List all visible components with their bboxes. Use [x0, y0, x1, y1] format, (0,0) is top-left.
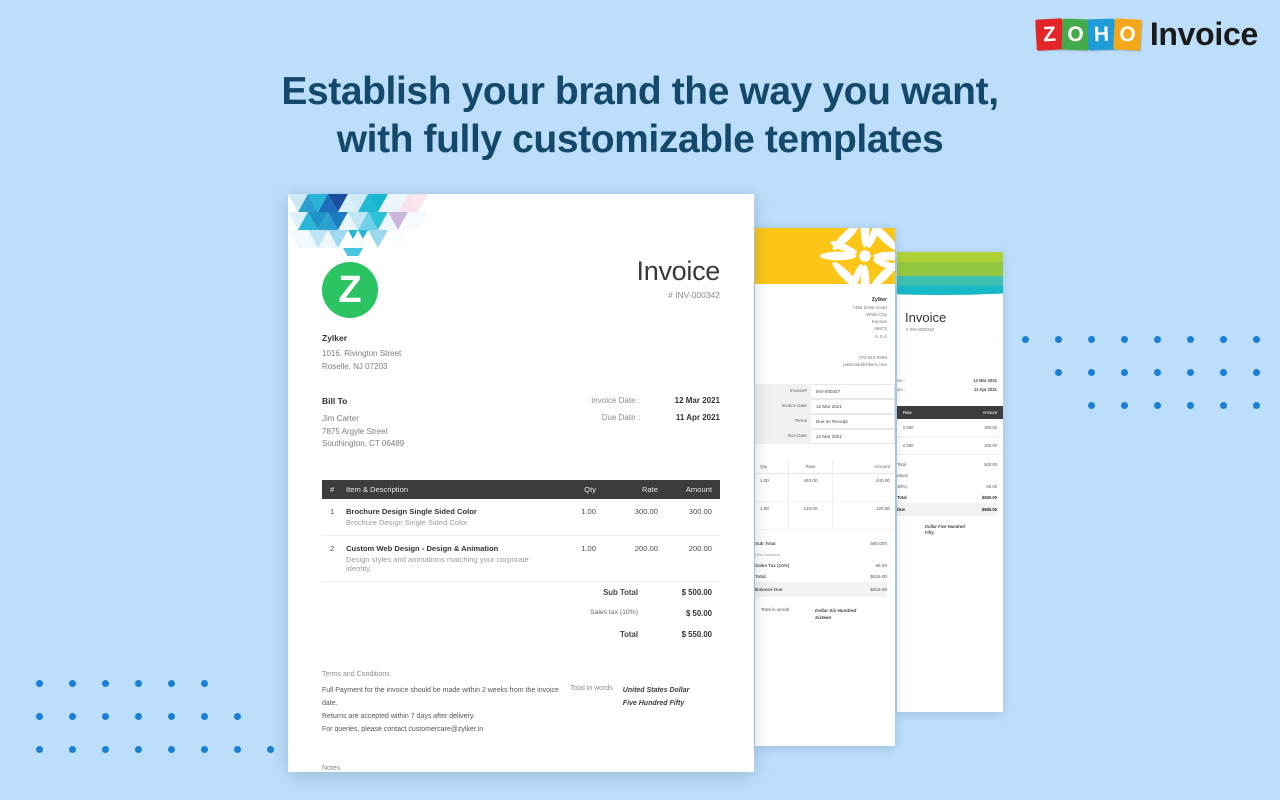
main-col-amount: Amount: [658, 485, 720, 494]
dot: [1187, 369, 1194, 376]
green-total-label: 10%): [897, 484, 907, 489]
main-cell-amount: 300.00: [658, 507, 720, 527]
yellow-balance-row: Balance Due $616.00: [755, 582, 887, 597]
yellow-cell-rate: 440.00: [789, 474, 833, 501]
yellow-org-line5: U.S.A: [755, 333, 887, 340]
green-total-value: 50.00: [987, 484, 997, 489]
dot: [168, 680, 175, 687]
yellow-total-value: $616.00: [870, 574, 887, 579]
dot: [1253, 336, 1260, 343]
dot-pattern-left: [36, 680, 300, 779]
dot: [69, 746, 76, 753]
main-bill-to-line2: Southington, CT 06489: [322, 438, 720, 450]
dot: [1220, 369, 1227, 376]
green-balance-label: Due: [897, 507, 905, 512]
dot-row: [36, 680, 300, 713]
main-notes-heading: Notes: [322, 765, 720, 772]
main-notes: Notes It was wonderful doing business wi…: [322, 765, 720, 772]
dot: [69, 713, 76, 720]
yellow-total-label: Sub Total: [755, 541, 776, 546]
yellow-total-label: Total: [755, 574, 766, 579]
dot: [1220, 336, 1227, 343]
yellow-meta-row: Terms Due on Receipt: [755, 414, 895, 429]
dot-row: [1088, 402, 1280, 435]
main-cell-amount: 200.00: [658, 544, 720, 573]
yellow-table-header: Qty Rate Amount: [755, 460, 895, 474]
yellow-total-in-words: Total in words Dollar Six Hundred Sixtee…: [755, 597, 895, 621]
yellow-total-row: Total $616.00: [755, 571, 887, 582]
yellow-cell-amount: 120.00: [833, 502, 895, 529]
dot: [1121, 369, 1128, 376]
main-org-address: Zylker 1016, Rivington Street Roselle, N…: [322, 332, 720, 373]
dot-row: [36, 713, 300, 746]
yellow-meta-label: Invoice Date: [755, 399, 811, 414]
green-cell-amount: 200.00: [984, 443, 997, 448]
main-due-date-value: 11 Apr 2021: [658, 413, 720, 422]
green-total-row: 10%) 50.00: [897, 481, 997, 492]
main-org-name: Zylker: [322, 332, 720, 345]
yellow-words-line-2: Sixteen: [815, 615, 831, 620]
dot: [102, 746, 109, 753]
yellow-meta-row: Invoice# INV-000347: [755, 384, 895, 399]
yellow-meta-table: Invoice# INV-000347 Invoice Date 12 Mar …: [755, 384, 895, 444]
invoice-template-green[interactable]: Invoice # INV-000342 ate : 12 Mar 2021 a…: [897, 252, 1003, 712]
logo-box-o2: O: [1113, 18, 1142, 50]
yellow-total-row: Sub Total 560.000: [755, 538, 887, 549]
main-terms-line-3: For queries, please contact customercare…: [322, 724, 570, 737]
yellow-org-line1: 7455 Drew Court: [755, 304, 887, 311]
main-terms-heading: Terms and Conditions: [322, 671, 570, 678]
green-total-row: Total 500.00: [897, 459, 997, 470]
yellow-meta-row: Due Date 12 Mar 2021: [755, 429, 895, 444]
yellow-table-row: 1.00 120.00 120.00: [755, 502, 895, 530]
main-terms-line-1: Full Payment for the invoice should be m…: [322, 685, 570, 711]
main-totals: Sub Total $ 500.00 Sales tax (10%) $ 50.…: [322, 582, 720, 645]
main-footer: Terms and Conditions Full Payment for th…: [322, 671, 720, 737]
dot: [201, 746, 208, 753]
green-invoice-title: Invoice: [897, 300, 1003, 325]
green-words-line-2: Fifty: [925, 530, 997, 536]
dot: [36, 680, 43, 687]
green-balance-value: $550.00: [982, 507, 997, 512]
main-item-title: Custom Web Design - Design & Animation: [346, 544, 544, 553]
main-invoice-date-value: 12 Mar 2021: [658, 396, 720, 405]
dot: [234, 746, 241, 753]
yellow-balance-label: Balance Due: [755, 587, 783, 592]
table-row: 1 Brochure Design Single Sided Color Bro…: [322, 499, 720, 536]
dot: [201, 713, 208, 720]
yellow-meta-label: Invoice#: [755, 384, 811, 399]
main-item-desc: Brochure Design Single Sided Color: [346, 518, 544, 527]
yellow-col-rate: Rate: [789, 460, 833, 473]
dot: [1088, 402, 1095, 409]
logo-box-z: Z: [1035, 18, 1064, 50]
yellow-cell-rate: 120.00: [789, 502, 833, 529]
green-cell-amount: 300.00: [984, 425, 997, 430]
main-total-label: Total: [620, 630, 638, 639]
dot: [168, 746, 175, 753]
yellow-meta-label: Terms: [755, 414, 811, 429]
main-invoice-number: # INV-000342: [637, 290, 720, 300]
yellow-header-banner: [755, 228, 895, 284]
main-tax-row: Sales tax (10%) $ 50.00: [322, 603, 720, 624]
yellow-org-contact: 270-510-0585 patriciab@zillum.com: [755, 340, 895, 369]
headline-line-1: Establish your brand the way you want,: [0, 68, 1280, 116]
yellow-tax-inclusive-note: (Tax inclusive): [755, 552, 780, 557]
logo-box-o1: O: [1061, 19, 1089, 51]
yellow-meta-value: 12 Mar 2021: [811, 399, 895, 414]
main-total-row: Total $ 550.00: [322, 624, 720, 645]
green-totals: Total 500.00 usive) 10%) 50.00 Total $55…: [897, 455, 1003, 516]
main-card-body: Z Invoice # INV-000342 Zylker 1016, Rivi…: [288, 194, 754, 450]
main-subtotal-label: Sub Total: [603, 588, 638, 597]
main-total-in-words: Total in words United States Dollar Five…: [570, 671, 720, 737]
dot: [234, 713, 241, 720]
main-col-qty: Qty: [544, 485, 596, 494]
main-terms-line-2: Returns are accepted within 7 days after…: [322, 711, 570, 724]
yellow-words-line-1: Dollar Six Hundred: [815, 608, 856, 613]
yellow-table-row: 1.00 440.00 440.00: [755, 474, 895, 502]
main-total-value: $ 550.00: [658, 630, 720, 639]
yellow-meta-value: 12 Mar 2021: [811, 429, 895, 444]
yellow-org-name: Zylker: [755, 296, 887, 304]
main-table-header: # Item & Description Qty Rate Amount: [322, 480, 720, 499]
green-date-value: 12 Mar 2021: [973, 378, 997, 383]
yellow-org-email: patriciab@zillum.com: [755, 361, 887, 368]
zoho-invoice-logo: Z O H O Invoice: [1036, 16, 1258, 53]
green-total-row: usive): [897, 470, 997, 481]
dot: [1088, 336, 1095, 343]
dot: [36, 746, 43, 753]
yellow-org-line4: 66872: [755, 325, 887, 332]
dot-row: [1055, 369, 1280, 402]
product-name: Invoice: [1150, 16, 1258, 53]
main-invoice-date-label: Invoice Date :: [591, 396, 640, 405]
main-cell-number: 1: [322, 507, 346, 527]
dot: [1253, 402, 1260, 409]
yellow-balance-value: $616.00: [870, 587, 887, 592]
main-words-line-1: United States Dollar: [623, 687, 690, 694]
green-total-in-words: Dollar Five Hundred Fifty: [897, 516, 1003, 537]
main-col-number: #: [322, 485, 346, 494]
green-date-row: ate : 12 Mar 2021: [897, 376, 997, 385]
green-date-row: ate : 11 Apr 2021: [897, 385, 997, 394]
dot: [1022, 336, 1029, 343]
main-tax-label: Sales tax (10%): [590, 609, 638, 618]
dot: [1055, 369, 1062, 376]
green-table-row: 0.000 300.00: [897, 419, 1003, 437]
main-words-label: Total in words: [570, 685, 613, 737]
green-date-label: ate :: [897, 378, 905, 383]
main-tax-value: $ 50.00: [658, 609, 720, 618]
main-item-desc: Design styles and animations matching yo…: [346, 555, 544, 573]
yellow-total-row: Sales Tax (10%) 56.00: [755, 560, 887, 571]
headline-line-2: with fully customizable templates: [0, 116, 1280, 164]
main-item-title: Brochure Design Single Sided Color: [346, 507, 544, 516]
yellow-totals: Sub Total 560.000 (Tax inclusive) Sales …: [755, 530, 895, 597]
yellow-total-value: 56.00: [876, 563, 888, 568]
logo-box-h: H: [1087, 19, 1115, 51]
dot: [1121, 402, 1128, 409]
green-col-amount: Amount: [983, 410, 997, 415]
yellow-cell-qty: 1.00: [755, 502, 789, 529]
main-cell-rate: 300.00: [596, 507, 658, 527]
dot: [102, 680, 109, 687]
main-cell-rate: 200.00: [596, 544, 658, 573]
dot: [135, 680, 142, 687]
main-org-line2: Roselle, NJ 07203: [322, 361, 720, 373]
yellow-org-line2: White City: [755, 311, 887, 318]
green-total-value: 500.00: [984, 462, 997, 467]
green-cell-rate: 0.000: [903, 425, 913, 430]
main-due-date-label: Due Date :: [602, 413, 640, 422]
main-cell-qty: 1.00: [544, 544, 596, 573]
yellow-total-subrow: (Tax inclusive): [755, 549, 887, 560]
dot: [1187, 402, 1194, 409]
dot-row: [1022, 336, 1280, 369]
yellow-col-amount: Amount: [833, 460, 895, 473]
invoice-template-main[interactable]: Z Invoice # INV-000342 Zylker 1016, Rivi…: [288, 194, 754, 772]
main-cell-number: 2: [322, 544, 346, 573]
dot: [1154, 402, 1161, 409]
green-total-sublabel: usive): [897, 473, 908, 478]
dot: [1154, 369, 1161, 376]
page-headline: Establish your brand the way you want, w…: [0, 68, 1280, 163]
main-cell-description: Brochure Design Single Sided Color Broch…: [346, 507, 544, 527]
zoho-wordmark: Z O H O: [1036, 19, 1140, 50]
main-cell-qty: 1.00: [544, 507, 596, 527]
dot-pattern-right: [1022, 336, 1280, 435]
main-line-items-table: # Item & Description Qty Rate Amount 1 B…: [322, 480, 720, 582]
dot: [135, 713, 142, 720]
dot-row: [36, 746, 300, 779]
yellow-meta-row: Invoice Date 12 Mar 2021: [755, 399, 895, 414]
green-total-label: Total: [897, 462, 906, 467]
yellow-org-phone: 270-510-0585: [755, 354, 887, 361]
main-col-rate: Rate: [596, 485, 658, 494]
main-words-line-2: Five Hundred Fifty: [623, 700, 684, 707]
green-dates: ate : 12 Mar 2021 ate : 11 Apr 2021: [897, 332, 1003, 394]
dot: [1154, 336, 1161, 343]
yellow-org-line3: Kansas: [755, 318, 887, 325]
dot: [1088, 369, 1095, 376]
dot: [168, 713, 175, 720]
yellow-meta-label: Due Date: [755, 429, 811, 444]
green-date-value: 11 Apr 2021: [974, 387, 997, 392]
zylker-logo-avatar: Z: [322, 262, 378, 318]
green-cell-rate: 0.000: [903, 443, 913, 448]
dot: [1055, 336, 1062, 343]
main-due-date-row: Due Date : 11 Apr 2021: [591, 409, 720, 426]
yellow-cell-qty: 1.00: [755, 474, 789, 501]
main-invoice-title: Invoice: [637, 256, 720, 287]
main-subtotal-row: Sub Total $ 500.00: [322, 582, 720, 603]
dot: [201, 680, 208, 687]
main-bill-to-line1: 7875 Argyle Street: [322, 426, 720, 438]
yellow-org-address: Zylker 7455 Drew Court White City Kansas…: [755, 284, 895, 340]
green-wave-header: [897, 252, 1003, 300]
main-dates: Invoice Date : 12 Mar 2021 Due Date : 11…: [591, 392, 720, 426]
dot: [102, 713, 109, 720]
main-terms-block: Terms and Conditions Full Payment for th…: [322, 671, 570, 737]
main-col-description: Item & Description: [346, 485, 544, 494]
dot: [1121, 336, 1128, 343]
green-total-value: $550.00: [982, 495, 997, 500]
green-col-rate: Rate: [903, 410, 912, 415]
yellow-cell-amount: 440.00: [833, 474, 895, 501]
yellow-total-value: 560.000: [870, 541, 887, 546]
green-total-row: Total $550.00: [897, 492, 997, 503]
main-cell-description: Custom Web Design - Design & Animation D…: [346, 544, 544, 573]
main-words-value: United States Dollar Five Hundred Fifty: [623, 685, 690, 737]
green-total-label: Total: [897, 495, 907, 500]
yellow-words-value: Dollar Six Hundred Sixteen: [815, 607, 887, 621]
yellow-meta-value: INV-000347: [811, 384, 895, 399]
dot: [1187, 336, 1194, 343]
dot: [267, 746, 274, 753]
dot: [36, 713, 43, 720]
green-table-row: 0.000 200.00: [897, 437, 1003, 455]
yellow-meta-value: Due on Receipt: [811, 414, 895, 429]
dot: [1220, 402, 1227, 409]
dot: [69, 680, 76, 687]
table-row: 2 Custom Web Design - Design & Animation…: [322, 536, 720, 582]
yellow-total-label: Sales Tax (10%): [755, 563, 789, 568]
dot: [135, 746, 142, 753]
green-balance-row: Due $550.00: [897, 503, 997, 516]
green-invoice-number: # INV-000342: [897, 325, 1003, 332]
dot: [1253, 369, 1260, 376]
main-subtotal-value: $ 500.00: [658, 588, 720, 597]
main-invoice-date-row: Invoice Date : 12 Mar 2021: [591, 392, 720, 409]
invoice-template-yellow[interactable]: Zylker 7455 Drew Court White City Kansas…: [755, 228, 895, 746]
yellow-words-label: Total in words: [761, 607, 789, 621]
floral-burst-icon: [817, 228, 895, 284]
main-invoice-heading: Invoice # INV-000342: [637, 256, 720, 300]
green-table-header: Rate Amount: [897, 406, 1003, 419]
main-org-line1: 1016, Rivington Street: [322, 348, 720, 360]
green-date-label: ate :: [897, 387, 905, 392]
yellow-col-qty: Qty: [755, 460, 789, 473]
